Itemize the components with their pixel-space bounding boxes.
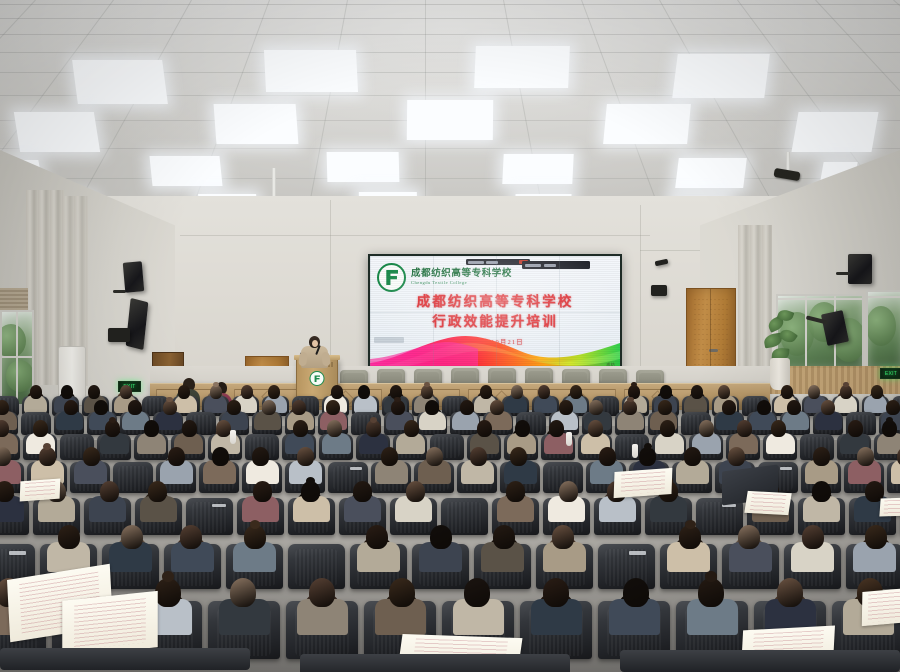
attendee-head xyxy=(297,447,314,466)
seat-number-tag xyxy=(629,551,646,555)
school-emblem-icon xyxy=(377,263,406,292)
wall-speaker-left-upper xyxy=(123,261,145,293)
attendee-head xyxy=(506,481,525,502)
attendee-head xyxy=(757,400,771,415)
attendee-head xyxy=(802,525,824,549)
presenter-face xyxy=(312,340,318,347)
attendee-head xyxy=(865,525,887,549)
attendee-head xyxy=(406,481,425,502)
booklet-text-lines xyxy=(868,592,900,623)
attendee-head xyxy=(857,447,874,466)
foliage xyxy=(0,324,26,358)
seat-armrest xyxy=(0,648,250,670)
toolbar-pill xyxy=(525,264,541,267)
attendee-head xyxy=(33,420,48,437)
attendee-head xyxy=(771,420,786,437)
ceiling-light xyxy=(14,112,100,152)
attendee-head xyxy=(309,578,335,607)
attendee-head xyxy=(230,578,256,607)
attendee-head xyxy=(121,525,143,549)
attendee-head xyxy=(358,385,370,399)
attendee-head xyxy=(61,385,73,399)
window-mullion xyxy=(2,356,32,358)
attendee-head xyxy=(684,447,701,466)
window-right-far xyxy=(866,290,900,370)
attendee-hair-bun xyxy=(370,417,377,423)
attendee-hair-bun xyxy=(644,443,652,450)
auditorium-photo: EXIT EXIT xyxy=(0,0,900,672)
printed-booklet[interactable] xyxy=(862,588,900,626)
attendee-head xyxy=(658,400,672,415)
ceiling-light xyxy=(407,100,493,140)
ceiling-light xyxy=(675,158,747,188)
attendee-head xyxy=(460,400,474,415)
audience-area xyxy=(0,386,900,672)
attendee-head xyxy=(470,447,487,466)
seat-number-tag xyxy=(350,467,362,470)
window-mullion xyxy=(805,296,807,368)
wave-svg xyxy=(370,329,620,371)
slide-title-line1: 成都纺织高等专科学校 xyxy=(370,292,620,312)
attendee-head xyxy=(128,400,142,415)
curtain-right xyxy=(738,225,772,370)
auditorium-seat[interactable] xyxy=(113,462,153,493)
attendee-hair-bun xyxy=(306,477,315,485)
slide-toolbar-primary[interactable] xyxy=(522,261,590,269)
slide-logo-text: 成都纺织高等专科学校 Chengdu Textile College xyxy=(411,270,512,285)
toolbar-pill xyxy=(468,261,484,264)
wall-seam xyxy=(640,205,641,370)
attendee-head xyxy=(425,400,439,415)
attendee-head xyxy=(886,400,900,415)
attendee-head xyxy=(480,385,492,399)
ceiling-light xyxy=(502,154,573,184)
toolbar-pill xyxy=(486,261,498,264)
speaker-mount-arm xyxy=(836,272,850,275)
attendee-head xyxy=(182,420,197,437)
booklet-text-lines xyxy=(621,471,666,495)
attendee-hair-bun xyxy=(685,520,696,529)
ceiling-light xyxy=(72,60,168,104)
attendee-head xyxy=(728,447,745,466)
attendee-head xyxy=(589,400,603,415)
attendee-head xyxy=(543,578,569,607)
booklet-text-lines xyxy=(25,481,56,499)
attendee-head xyxy=(549,420,564,437)
attendee-head xyxy=(88,385,100,399)
ceiling-light xyxy=(791,112,878,152)
ceiling-light xyxy=(672,54,770,98)
attendee-head xyxy=(83,447,100,466)
attendee-head xyxy=(718,385,730,399)
exit-sign-right: EXIT xyxy=(880,368,900,379)
seat-armrest xyxy=(300,654,570,672)
attendee-head xyxy=(326,400,340,415)
attendee-head xyxy=(691,385,703,399)
attendee-head xyxy=(430,525,452,549)
attendee-head xyxy=(178,385,190,399)
attendee-head xyxy=(241,385,253,399)
emblem-glyph xyxy=(385,270,398,285)
attendee-head xyxy=(588,420,603,437)
attendee-head xyxy=(538,385,550,399)
attendee-head xyxy=(389,578,415,607)
speaker-mount-arm xyxy=(113,290,126,293)
exit-sign-label: EXIT xyxy=(885,371,897,377)
booklet-text-lines xyxy=(750,493,786,512)
seat-number-tag xyxy=(9,551,26,555)
presentation-slide: 成都纺织高等专科学校 Chengdu Textile College 成都纺织高… xyxy=(370,256,620,371)
attendee-head xyxy=(252,447,269,466)
attendee-head xyxy=(812,481,831,502)
attendee-head xyxy=(660,420,675,437)
attendee-head xyxy=(698,578,724,607)
attendee-hair-bun xyxy=(627,397,634,403)
attendee-head xyxy=(490,400,504,415)
ceiling-light xyxy=(603,104,691,144)
printed-booklet[interactable] xyxy=(20,479,61,502)
seat-armrest xyxy=(620,650,900,672)
foliage xyxy=(866,306,896,346)
school-name-en: Chengdu Textile College xyxy=(411,280,512,285)
attendee-head xyxy=(787,400,801,415)
toolbar-pill xyxy=(544,264,556,267)
ceiling-light xyxy=(149,156,222,186)
attendee-head xyxy=(781,385,793,399)
attendee-head xyxy=(699,420,714,437)
attendee-head xyxy=(94,400,108,415)
ceiling-light xyxy=(214,104,299,144)
water-bottle[interactable] xyxy=(566,432,572,446)
attendee-head xyxy=(293,420,308,437)
led-screen: 成都纺织高等专科学校 Chengdu Textile College 成都纺织高… xyxy=(368,254,622,373)
seat-number-tag xyxy=(780,467,792,470)
booklet-text-lines xyxy=(883,499,900,514)
attendee-head xyxy=(660,385,672,399)
ceiling-light xyxy=(327,152,400,182)
attendee-head xyxy=(599,447,616,466)
camera-box-left xyxy=(108,328,130,342)
booklet-text-lines xyxy=(74,598,147,651)
window-blind-left xyxy=(0,288,28,310)
attendee-head xyxy=(813,447,830,466)
wall-speaker-right-upper xyxy=(848,254,872,284)
attendee-head xyxy=(180,525,202,549)
attendee-head xyxy=(559,481,578,502)
attendee-head xyxy=(155,578,181,607)
attendee-head xyxy=(777,578,803,607)
slide-wave-graphic xyxy=(370,329,620,371)
attendee-head xyxy=(623,578,649,607)
podium-emblem-icon xyxy=(310,371,325,386)
attendee-head xyxy=(58,525,80,549)
attendee-head xyxy=(212,447,229,466)
printed-booklet[interactable] xyxy=(614,468,673,498)
attendee-head xyxy=(570,385,582,399)
slide-toolbar-secondary[interactable] xyxy=(466,259,530,265)
ceiling-light xyxy=(264,50,358,92)
school-name-cn: 成都纺织高等专科学校 xyxy=(411,270,512,280)
attendee-head xyxy=(821,400,835,415)
attendee-head xyxy=(737,420,752,437)
printed-booklet[interactable] xyxy=(744,491,791,515)
attendee-head xyxy=(404,420,419,437)
attendee-head xyxy=(808,385,820,399)
attendee-head xyxy=(511,385,523,399)
attendee-head xyxy=(381,447,398,466)
attendee-head xyxy=(268,385,280,399)
attendee-head xyxy=(464,578,490,607)
seat-number-tag xyxy=(212,504,226,507)
attendee-head xyxy=(559,400,573,415)
attendee-head xyxy=(353,481,372,502)
attendee-head xyxy=(100,481,119,502)
attendee-head xyxy=(327,420,342,437)
water-bottle[interactable] xyxy=(632,444,638,458)
attendee-head xyxy=(144,420,159,437)
attendee-head xyxy=(477,420,492,437)
attendee-head xyxy=(391,400,405,415)
attendee-head xyxy=(168,447,185,466)
attendee-head xyxy=(216,420,231,437)
attendee-head xyxy=(515,420,530,437)
attendee-head xyxy=(64,400,78,415)
attendee-head xyxy=(623,400,637,415)
attendee-head xyxy=(848,420,863,437)
slide-logo: 成都纺织高等专科学校 Chengdu Textile College xyxy=(377,263,512,292)
attendee-head xyxy=(227,400,241,415)
attendee-hair-bun xyxy=(250,520,261,529)
attendee-head xyxy=(331,385,343,399)
attendee-head xyxy=(510,447,527,466)
attendee-head xyxy=(262,400,276,415)
water-bottle[interactable] xyxy=(230,430,236,444)
attendee-head xyxy=(292,400,306,415)
attendee-hair-bun xyxy=(843,382,849,387)
ceiling-light xyxy=(474,46,570,88)
wall-seam xyxy=(330,200,331,370)
attendee-head xyxy=(722,400,736,415)
attendee-head xyxy=(163,400,177,415)
window-mullion xyxy=(778,298,862,300)
printed-booklet[interactable] xyxy=(879,497,900,516)
camera-box-right xyxy=(651,285,667,296)
attendee-head xyxy=(738,525,760,549)
attendee-head xyxy=(871,385,883,399)
attendee-head xyxy=(148,481,167,502)
attendee-head xyxy=(0,481,14,502)
attendee-head xyxy=(0,400,9,415)
wall-seam xyxy=(180,235,650,236)
attendee-head xyxy=(493,525,515,549)
window-mullion xyxy=(868,296,900,298)
attendee-head xyxy=(120,385,132,399)
attendee-hair-bun xyxy=(213,382,219,387)
attendee-head xyxy=(30,385,42,399)
attendee-head xyxy=(253,481,272,502)
attendee-head xyxy=(366,525,388,549)
attendee-head xyxy=(552,525,574,549)
attendee-head xyxy=(426,447,443,466)
